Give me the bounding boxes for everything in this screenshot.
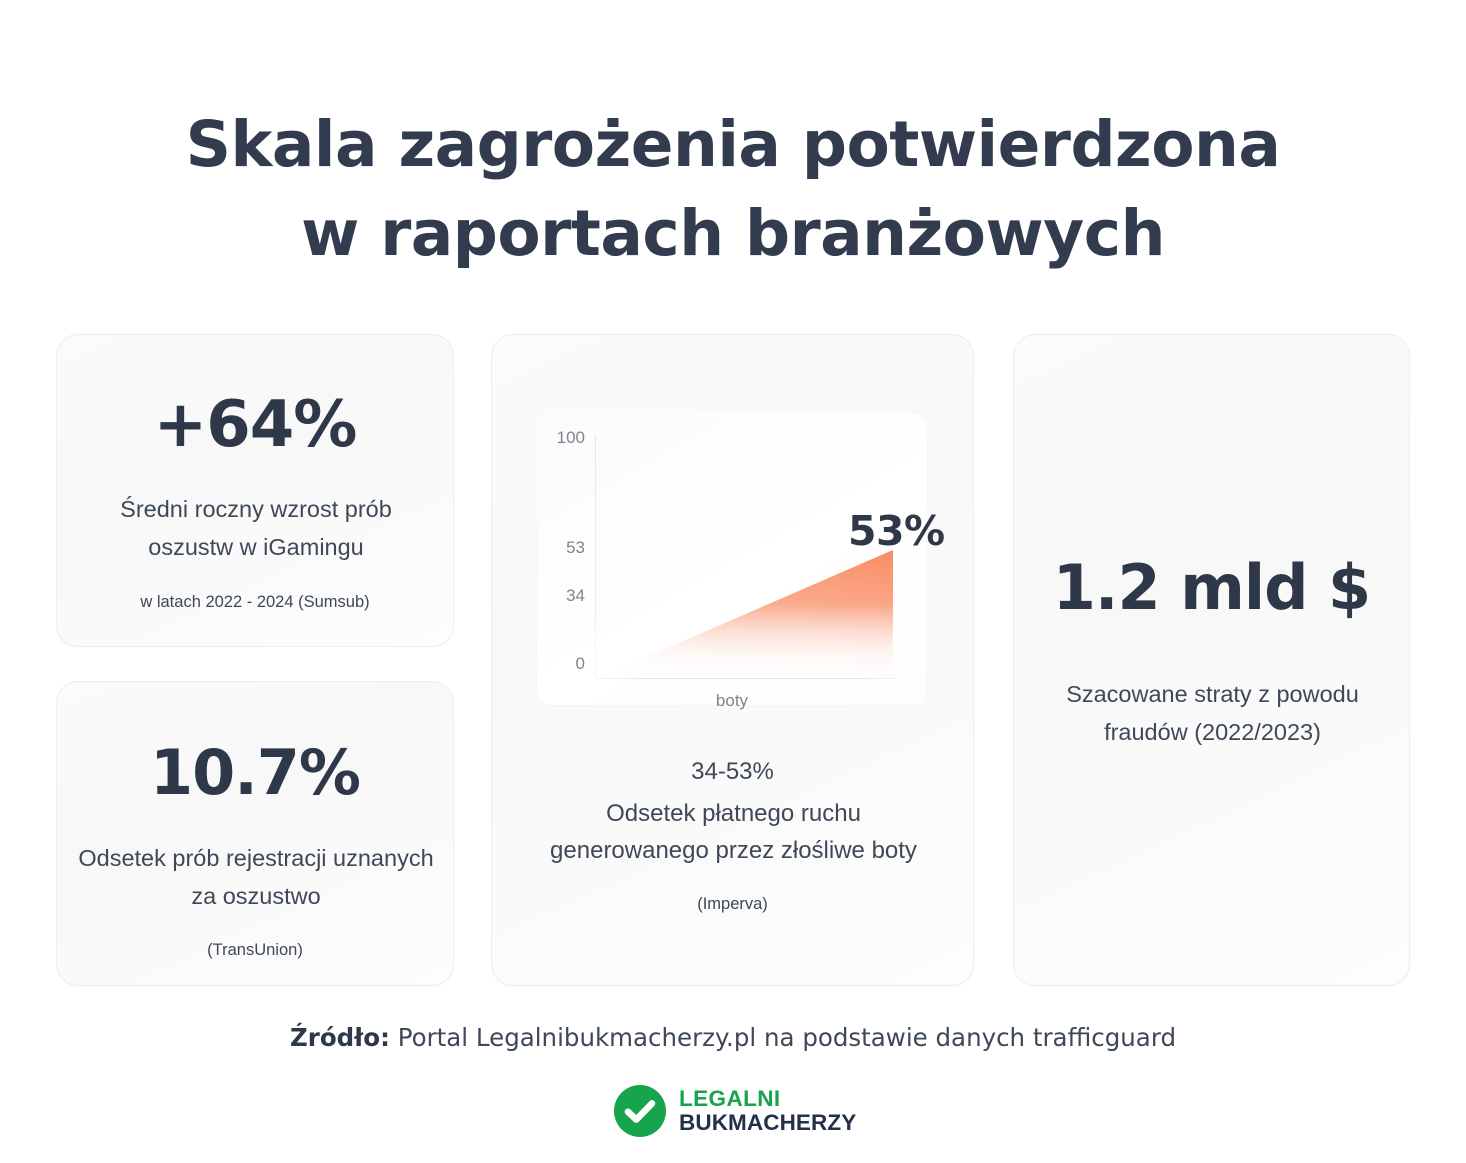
y-tick-34: 34: [566, 587, 585, 604]
page-title: Skala zagrożenia potwierdzona w raportac…: [0, 100, 1466, 279]
bots-source: (Imperva): [492, 895, 973, 914]
chart-area-series: [596, 435, 896, 679]
y-tick-0: 0: [576, 655, 585, 672]
growth-stat-value: +64%: [57, 388, 453, 462]
brand-name-bottom: BUKMACHERZY: [679, 1111, 856, 1135]
brand-name-top: LEGALNI: [679, 1087, 856, 1111]
chart-y-axis: 100 53 34 0: [537, 413, 589, 705]
bots-chart: 100 53 34 0: [537, 413, 927, 705]
source-footer: Źródło: Portal Legalnibukmacherzy.pl na …: [0, 1023, 1466, 1052]
brand-logo: LEGALNI BUKMACHERZY: [614, 1081, 854, 1141]
stat-card-losses: 1.2 mld $ Szacowane straty z powodu frau…: [1013, 334, 1410, 986]
checkmark-icon: [614, 1085, 666, 1137]
registration-source: (TransUnion): [57, 938, 453, 963]
stat-card-bots: 100 53 34 0: [491, 334, 974, 986]
chart-x-axis-line: [595, 678, 900, 679]
page-title-line-2: w raportach branżowych: [0, 189, 1466, 278]
check-circle-icon: [614, 1085, 666, 1137]
brand-logo-text: LEGALNI BUKMACHERZY: [679, 1087, 856, 1135]
bots-description: Odsetek płatnego ruchu generowanego prze…: [532, 795, 935, 870]
growth-description: Średni roczny wzrost prób oszustw w iGam…: [81, 490, 431, 566]
registration-description: Odsetek prób rejestracji uznanych za osz…: [75, 839, 437, 915]
bots-range-value: 34-53%: [492, 758, 973, 786]
infographic-page: Skala zagrożenia potwierdzona w raportac…: [0, 0, 1466, 1163]
losses-stat-value: 1.2 mld $: [1014, 551, 1409, 624]
page-title-line-1: Skala zagrożenia potwierdzona: [0, 100, 1466, 189]
source-value: Portal Legalnibukmacherzy.pl na podstawi…: [398, 1023, 1176, 1052]
y-tick-100: 100: [557, 429, 585, 446]
chart-plot-area: [596, 435, 896, 679]
chart-value-annotation: 53%: [848, 507, 945, 555]
stat-card-growth: +64% Średni roczny wzrost prób oszustw w…: [56, 334, 454, 647]
losses-description: Szacowane straty z powodu fraudów (2022/…: [1034, 675, 1391, 751]
growth-source: w latach 2022 - 2024 (Sumsub): [57, 590, 453, 615]
registration-stat-value: 10.7%: [57, 736, 453, 809]
source-label: Źródło:: [290, 1023, 390, 1052]
chart-x-axis-label: boty: [537, 691, 927, 711]
stat-card-registration: 10.7% Odsetek prób rejestracji uznanych …: [56, 681, 454, 986]
y-tick-53: 53: [566, 539, 585, 556]
